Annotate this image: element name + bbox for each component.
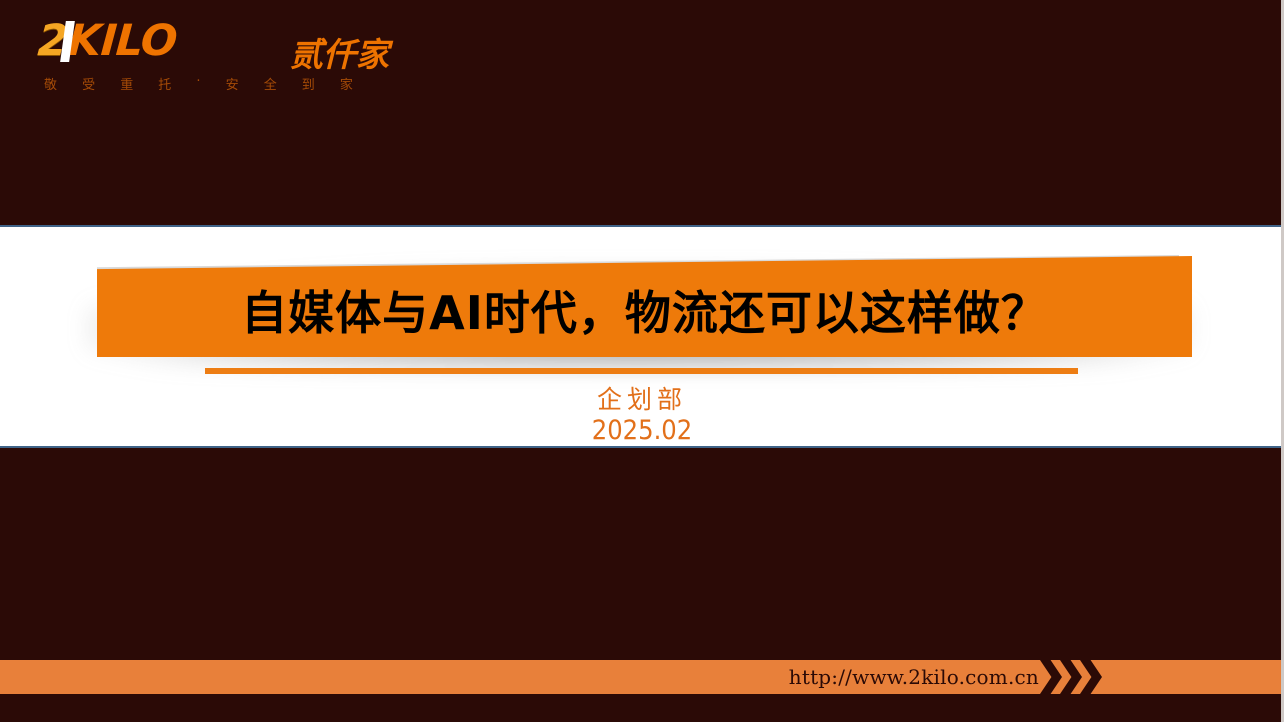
content-band: 自媒体与AI时代，物流还可以这样做？ 企划部 2025.02 bbox=[0, 225, 1284, 448]
logo-letter-k: K bbox=[66, 20, 101, 63]
tagline-char: 受 bbox=[82, 74, 96, 93]
subtitle-block: 企划部 2025.02 bbox=[0, 385, 1284, 446]
tagline-char: 全 bbox=[264, 74, 278, 93]
subtitle-date: 2025.02 bbox=[0, 415, 1284, 446]
logo-tagline: 敬 受 重 托 · 安 全 到 家 bbox=[44, 74, 354, 93]
tagline-char: 敬 bbox=[44, 74, 58, 93]
tagline-separator-dot: · bbox=[196, 74, 201, 93]
logo-chinese-name: 贰仟家 bbox=[290, 38, 389, 71]
orange-divider-rule bbox=[205, 368, 1078, 374]
chevron-right-icon bbox=[1080, 660, 1102, 694]
footer-chevron-group bbox=[1040, 660, 1106, 694]
tagline-char: 家 bbox=[340, 74, 354, 93]
logo-wordmark: 2 K ILO bbox=[38, 18, 177, 64]
tagline-char: 安 bbox=[226, 74, 240, 93]
page-title: 自媒体与AI时代，物流还可以这样做？ bbox=[241, 271, 1048, 343]
company-logo: 2 K ILO 贰仟家 敬 受 重 托 · 安 全 到 家 bbox=[38, 18, 368, 86]
logo-letters-ilo: ILO bbox=[100, 20, 178, 63]
title-banner-group: 自媒体与AI时代，物流还可以这样做？ bbox=[78, 255, 1198, 377]
tagline-char: 重 bbox=[120, 74, 134, 93]
chevron-right-icon bbox=[1060, 660, 1082, 694]
tagline-char: 托 bbox=[158, 74, 172, 93]
chevron-right-icon bbox=[1040, 660, 1062, 694]
subtitle-department: 企划部 bbox=[0, 385, 1284, 415]
tagline-char: 到 bbox=[302, 74, 316, 93]
title-banner: 自媒体与AI时代，物流还可以这样做？ bbox=[97, 256, 1192, 357]
presentation-slide: 2 K ILO 贰仟家 敬 受 重 托 · 安 全 到 家 自媒体与AI时代，物… bbox=[0, 0, 1284, 722]
